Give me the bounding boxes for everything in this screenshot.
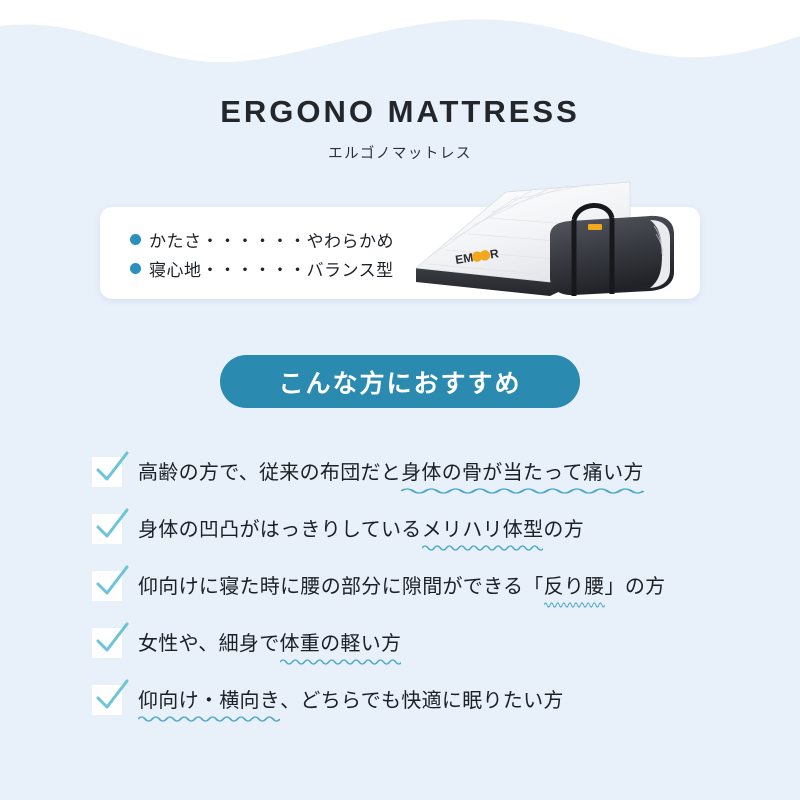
list-item-text: 女性や、細身で体重の軽い方 (138, 628, 401, 658)
bullet-dot-icon (130, 263, 141, 274)
product-photo: EM R (398, 176, 728, 311)
list-item: 仰向け・横向き、どちらでも快適に眠りたい方 (92, 683, 732, 740)
heading-block: ERGONO MATTRESS エルゴノマットレス (0, 96, 800, 163)
spec-label-firmness: かたさ (149, 227, 202, 252)
advertisement-page: ERGONO MATTRESS エルゴノマットレス かたさ ・・・・・・ やわら… (0, 0, 800, 800)
list-item: 高齢の方で、従来の布団だと身体の骨が当たって痛い方 (92, 455, 732, 512)
list-item-text: 仰向けに寝た時に腰の部分に隙間ができる「反り腰」の方 (138, 571, 665, 601)
check-icon (92, 514, 122, 544)
check-icon (92, 685, 122, 715)
spec-label-comfort: 寝心地 (149, 256, 202, 281)
spec-value-comfort: バランス型 (307, 256, 394, 281)
check-icon (92, 571, 122, 601)
banner-label: こんな方におすすめ (278, 364, 521, 400)
list-item-text: 高齢の方で、従来の布団だと身体の骨が当たって痛い方 (138, 457, 644, 487)
list-item: 身体の凹凸がはっきりしているメリハリ体型の方 (92, 512, 732, 569)
recommendation-banner: こんな方におすすめ (220, 355, 580, 408)
top-wave-decoration (0, 0, 800, 70)
svg-text:EM: EM (454, 250, 474, 267)
list-item: 仰向けに寝た時に腰の部分に隙間ができる「反り腰」の方 (92, 569, 732, 626)
list-item: 女性や、細身で体重の軽い方 (92, 626, 732, 683)
check-icon (92, 628, 122, 658)
list-item-text: 仰向け・横向き、どちらでも快適に眠りたい方 (138, 685, 564, 715)
recommendation-checklist: 高齢の方で、従来の布団だと身体の骨が当たって痛い方 身体の凹凸がはっきりしている… (92, 455, 732, 740)
bullet-dot-icon (130, 234, 141, 245)
spec-row-firmness: かたさ ・・・・・・ やわらかめ (130, 225, 394, 254)
spec-dots-comfort: ・・・・・・ (202, 256, 307, 281)
spec-list: かたさ ・・・・・・ やわらかめ 寝心地 ・・・・・・ バランス型 (130, 225, 394, 283)
check-icon (92, 457, 122, 487)
page-title: ERGONO MATTRESS (0, 96, 800, 127)
spec-row-comfort: 寝心地 ・・・・・・ バランス型 (130, 254, 394, 283)
spec-dots-firmness: ・・・・・・ (202, 227, 307, 252)
spec-value-firmness: やわらかめ (307, 227, 395, 252)
list-item-text: 身体の凹凸がはっきりしているメリハリ体型の方 (138, 514, 584, 544)
page-subtitle: エルゴノマットレス (0, 142, 800, 163)
